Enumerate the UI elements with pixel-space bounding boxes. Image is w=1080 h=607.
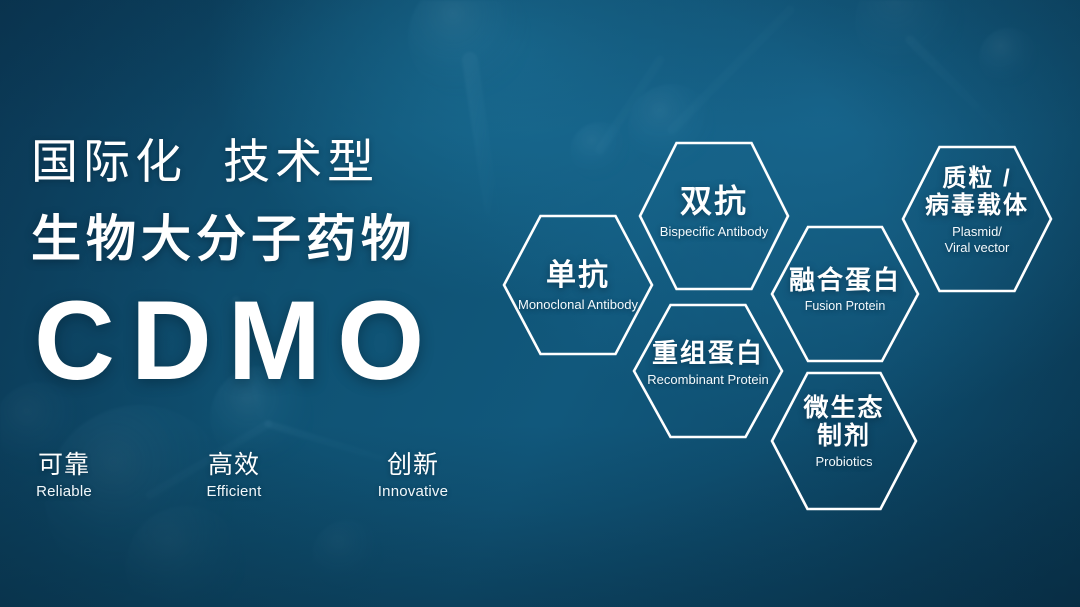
hexagon-outline bbox=[640, 143, 788, 289]
value-prop-label-cn: 创新 bbox=[338, 452, 488, 478]
value-proposition-row: 可靠Reliable高效Efficient创新Innovative bbox=[0, 452, 500, 512]
value-prop-label-cn: 可靠 bbox=[0, 452, 139, 478]
hexagon-fusion-protein[interactable]: 融合蛋白Fusion Protein bbox=[771, 226, 919, 362]
hexagon-outline bbox=[634, 305, 782, 437]
value-prop-innovative: 创新Innovative bbox=[338, 452, 488, 500]
value-prop-label-en: Efficient bbox=[159, 483, 309, 500]
hexagon-bispecific-antibody[interactable]: 双抗Bispecific Antibody bbox=[639, 142, 789, 290]
headline-tagline: 国际化 技术型 bbox=[31, 138, 379, 185]
hexagon-outline bbox=[772, 227, 918, 361]
headline-subject: 生物大分子药物 bbox=[31, 214, 416, 264]
value-prop-label-en: Reliable bbox=[0, 483, 139, 500]
poster-canvas: 国际化 技术型 生物大分子药物 CDMO 可靠Reliable高效Efficie… bbox=[0, 0, 1080, 607]
value-prop-label-en: Innovative bbox=[338, 483, 488, 500]
hexagon-probiotics[interactable]: 微生态 制剂Probiotics bbox=[771, 372, 917, 510]
page-title: CDMO bbox=[34, 285, 440, 397]
hexagon-outline bbox=[504, 216, 652, 354]
value-prop-label-cn: 高效 bbox=[159, 452, 309, 478]
value-prop-efficient: 高效Efficient bbox=[159, 452, 309, 500]
hexagon-plasmid[interactable]: 质粒 / 病毒载体Plasmid/ Viral vector bbox=[902, 146, 1052, 292]
value-prop-reliable: 可靠Reliable bbox=[0, 452, 139, 500]
hexagon-monoclonal-antibody[interactable]: 单抗Monoclonal Antibody bbox=[503, 215, 653, 355]
hexagon-outline bbox=[903, 147, 1051, 291]
hexagon-outline bbox=[772, 373, 916, 509]
hexagon-recombinant-protein[interactable]: 重组蛋白Recombinant Protein bbox=[633, 304, 783, 438]
